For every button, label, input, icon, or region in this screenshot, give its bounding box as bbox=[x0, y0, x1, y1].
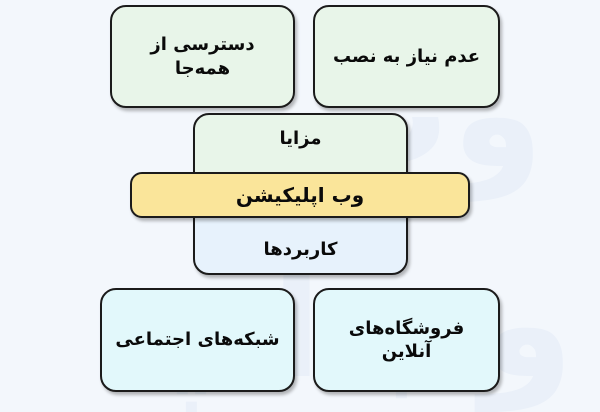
mind-map-diagram: وب اپ وب دسترسی از همه‌جا عدم نیاز به نص… bbox=[0, 0, 600, 400]
node-social-networks[interactable]: شبکه‌های اجتماعی bbox=[100, 288, 295, 392]
node-no-installation-needed[interactable]: عدم نیاز به نصب bbox=[313, 5, 500, 108]
node-online-shops[interactable]: فروشگاه‌های آنلاین bbox=[313, 288, 500, 392]
node-web-application-center[interactable]: وب اپلیکیشن bbox=[130, 172, 470, 218]
node-access-anywhere[interactable]: دسترسی از همه‌جا bbox=[110, 5, 295, 108]
